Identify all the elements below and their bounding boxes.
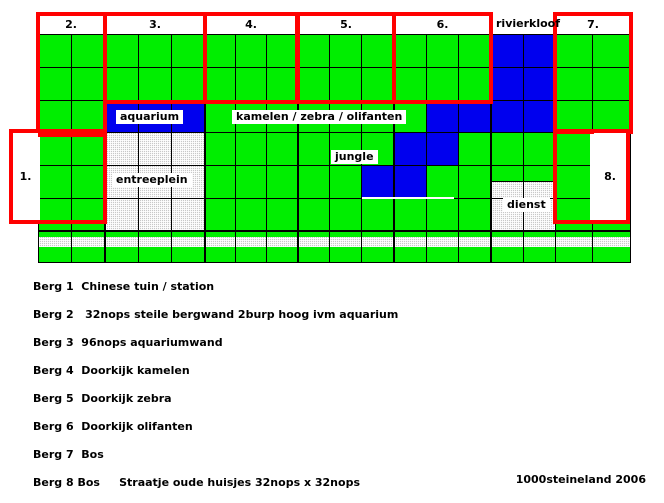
map-cell-water <box>394 132 427 166</box>
zone-label-1: 1. <box>13 133 38 220</box>
legend-row-text: Berg 6 Doorkijk olifanten <box>33 420 193 433</box>
map-cell <box>235 198 267 231</box>
legend-row: Berg 2 32nops steile bergwand 2burp hoog… <box>33 308 398 321</box>
legend-row: Berg 1 Chinese tuin / station <box>33 280 214 293</box>
area-label-kamelen-zebra-olifanten: kamelen / zebra / olifanten <box>232 110 406 124</box>
legend: Berg 1 Chinese tuin / station Berg 2 32n… <box>0 270 664 503</box>
legend-row: Berg 4 Doorkijk kamelen <box>33 364 190 377</box>
area-label-rivierkloof-text: rivierkloof <box>496 17 560 30</box>
map-cell-street <box>298 231 330 263</box>
map-cell-plaza <box>171 198 205 231</box>
map-cell <box>235 132 267 166</box>
map-cell-plaza <box>105 198 139 231</box>
legend-row: Berg 3 96nops aquariumwand <box>33 336 223 349</box>
map-cell-street <box>361 231 394 263</box>
zone-label-8-text: 8. <box>604 170 616 183</box>
map-cell-water <box>361 165 394 199</box>
map-cell <box>298 132 330 166</box>
map-cell <box>426 198 459 231</box>
zone-label-3: 3. <box>107 16 203 32</box>
zone-label-2: 2. <box>40 16 102 32</box>
map-cell <box>329 198 362 231</box>
map-cell-water <box>458 100 491 133</box>
map-cell-water <box>491 34 524 68</box>
area-label-rivierkloof: rivierkloof <box>492 17 564 31</box>
area-label-entreeplein: entreeplein <box>112 173 192 187</box>
zone-label-7-text: 7. <box>587 18 599 31</box>
zone-label-5-text: 5. <box>340 18 352 31</box>
map-cell-plaza <box>105 132 139 166</box>
map-cell-street <box>138 231 172 263</box>
zone-label-3-text: 3. <box>149 18 161 31</box>
map-cell-street <box>329 231 362 263</box>
legend-row-text: Berg 3 96nops aquariumwand <box>33 336 223 349</box>
area-label-dienst: dienst <box>503 198 550 212</box>
map-cell-street <box>426 231 459 263</box>
map-cell <box>266 198 298 231</box>
zone-label-6: 6. <box>396 16 489 32</box>
map-cell-water <box>491 67 524 101</box>
area-label-jungle-text: jungle <box>335 150 374 163</box>
legend-row-text: Berg 5 Doorkijk zebra <box>33 392 172 405</box>
legend-row: Berg 5 Doorkijk zebra <box>33 392 172 405</box>
area-label-dienst-text: dienst <box>507 198 546 211</box>
map-cell-service <box>523 181 556 199</box>
map-cell-street <box>235 231 267 263</box>
map-cell <box>329 165 362 199</box>
map-cell-street <box>555 231 593 263</box>
zone-label-8: 8. <box>594 133 626 220</box>
map-cell <box>266 165 298 199</box>
map-cell <box>205 132 236 166</box>
legend-row-text: Berg 7 Bos <box>33 448 104 461</box>
map-cell <box>361 198 394 231</box>
area-label-entreeplein-text: entreeplein <box>116 173 188 186</box>
credit-text: 1000steineland 2006 <box>516 473 646 486</box>
map-cell-street <box>38 231 72 263</box>
legend-row: Berg 7 Bos <box>33 448 104 461</box>
map-cell <box>298 198 330 231</box>
map-cell-street <box>105 231 139 263</box>
map-cell-water <box>523 67 556 101</box>
legend-row-text: Berg 8 Bos Straatje oude huisjes 32nops … <box>33 476 360 489</box>
map-cell-water <box>426 132 459 166</box>
zone-label-4-text: 4. <box>245 18 257 31</box>
map-cell-street <box>523 231 556 263</box>
map-cell-street <box>266 231 298 263</box>
zone-label-1-text: 1. <box>20 170 32 183</box>
map-cell <box>266 132 298 166</box>
legend-row: Berg 8 Bos Straatje oude huisjes 32nops … <box>33 476 360 489</box>
map-cell-water <box>523 100 556 133</box>
zone-label-7: 7. <box>557 16 629 32</box>
map-cell-street <box>458 231 491 263</box>
zone-label-6-text: 6. <box>437 18 449 31</box>
map-cell <box>523 132 556 166</box>
map-cell-street <box>205 231 236 263</box>
zone-label-5: 5. <box>300 16 392 32</box>
legend-row-text: Berg 4 Doorkijk kamelen <box>33 364 190 377</box>
legend-row-text: Berg 1 Chinese tuin / station <box>33 280 214 293</box>
map-cell-plaza <box>138 198 172 231</box>
legend-row: Berg 6 Doorkijk olifanten <box>33 420 193 433</box>
map-cell-street <box>71 231 105 263</box>
map-cell <box>235 165 267 199</box>
zone-label-4: 4. <box>207 16 295 32</box>
map-cell <box>458 198 491 231</box>
map-cell <box>458 132 491 166</box>
map-cell-service <box>491 181 524 199</box>
map-cell-plaza <box>171 132 205 166</box>
map-cell <box>298 165 330 199</box>
path-divider <box>362 197 454 199</box>
area-label-aquarium-text: aquarium <box>120 110 179 123</box>
map-cell-water <box>394 165 427 199</box>
park-map: 2. 3. 4. 5. 6. 7. 1. 8. rivierkloof aqua… <box>0 0 664 265</box>
zone-label-2-text: 2. <box>65 18 77 31</box>
map-cell-street <box>592 231 631 263</box>
map-cell-street <box>171 231 205 263</box>
map-cell-water <box>426 100 459 133</box>
map-cell <box>458 165 491 199</box>
area-label-aquarium: aquarium <box>116 110 183 124</box>
map-cell <box>426 165 459 199</box>
map-cell-street <box>491 231 524 263</box>
legend-row-text: Berg 2 32nops steile bergwand 2burp hoog… <box>33 308 398 321</box>
map-cell-water <box>523 34 556 68</box>
area-label-kamelen-text: kamelen / zebra / olifanten <box>236 110 402 123</box>
map-cell <box>205 198 236 231</box>
map-cell <box>394 198 427 231</box>
area-label-jungle: jungle <box>331 150 378 164</box>
map-cell <box>491 132 524 166</box>
map-cell-street <box>394 231 427 263</box>
map-cell-water <box>491 100 524 133</box>
credit-label: 1000steineland 2006 <box>516 473 646 486</box>
map-cell-plaza <box>138 132 172 166</box>
map-cell <box>205 165 236 199</box>
